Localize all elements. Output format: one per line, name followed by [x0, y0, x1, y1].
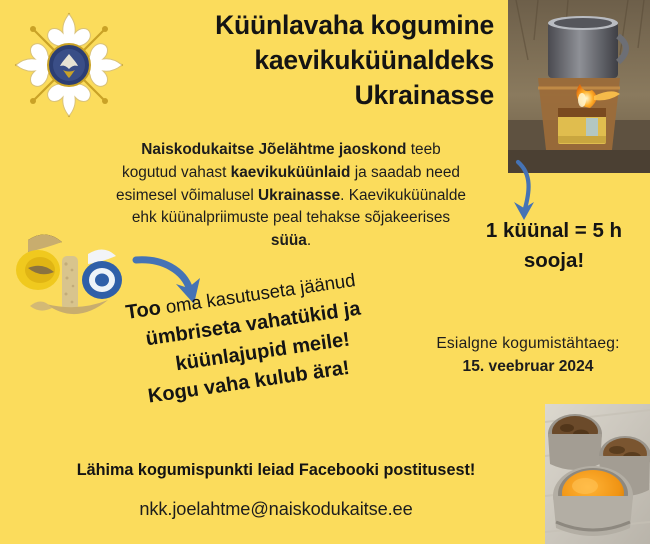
body-bold-ukraine: Ukrainasse — [258, 187, 340, 204]
title-line-3: Ukrainasse — [186, 78, 494, 113]
contact-email[interactable]: nkk.joelahtme@naiskodukaitse.ee — [28, 499, 524, 520]
heat-claim: 1 küünal = 5 h sooja! — [462, 216, 646, 275]
title-line-1: Küünlavaha kogumine — [186, 8, 494, 43]
candle-stub-collage — [6, 218, 134, 326]
cta-line-1-bold: Too — [124, 297, 162, 324]
photo-wax-filled-cans — [545, 404, 650, 544]
body-bold-org: Naiskodukaitse Jõelähtme jaoskond — [141, 141, 406, 158]
poster-canvas: Küünlavaha kogumine kaevikuküünaldeks Uk… — [0, 0, 650, 544]
heat-line-1: 1 küünal = 5 h — [462, 216, 646, 246]
deadline-label: Esialgne kogumistähtaeg: — [412, 332, 644, 355]
heat-line-2: sooja! — [462, 246, 646, 276]
body-text-4: . — [307, 232, 311, 249]
deadline-date: 15. veebruar 2024 — [412, 355, 644, 378]
naiskodukaitse-emblem-icon — [8, 6, 130, 124]
body-paragraph: Naiskodukaitse Jõelähtme jaoskond teeb k… — [112, 139, 470, 253]
photo-stove-mug-on-trench-candle — [508, 0, 650, 173]
body-bold-eat: süüa — [271, 232, 307, 249]
deadline-block: Esialgne kogumistähtaeg: 15. veebruar 20… — [412, 332, 644, 379]
facebook-info-line: Lähima kogumispunkti leiad Facebooki pos… — [28, 461, 524, 480]
body-bold-candles: kaevikuküünlaid — [231, 164, 351, 181]
title-line-2: kaevikuküünaldeks — [186, 43, 494, 78]
poster-title: Küünlavaha kogumine kaevikuküünaldeks Uk… — [186, 8, 494, 113]
